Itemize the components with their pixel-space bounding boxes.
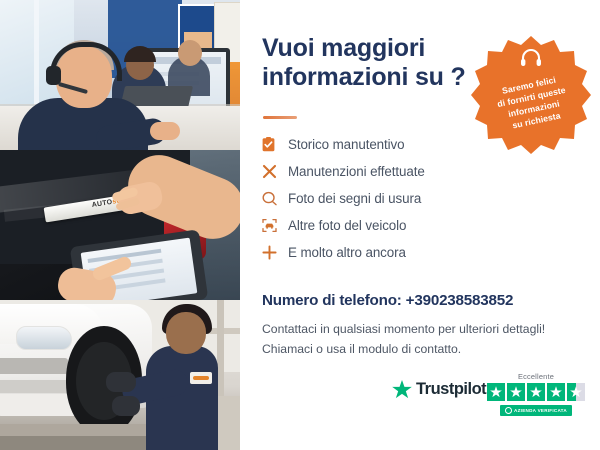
list-item: Altre foto del veicolo	[262, 212, 512, 239]
headline-line-2: informazioni su ?	[262, 63, 476, 92]
tools-cross-icon	[262, 164, 288, 179]
promo-banner: AUTOscout	[0, 0, 600, 450]
headlight	[16, 326, 72, 350]
trustpilot-widget[interactable]: Trustpilot Eccellente	[392, 372, 588, 418]
magnifier-icon	[262, 191, 288, 206]
garage-pole	[217, 300, 224, 400]
vehicle-inspection-photo: AUTOscout	[0, 150, 240, 300]
verified-company-badge: AZIENDA VERIFICATA	[500, 405, 572, 416]
window-frame	[34, 0, 39, 112]
agent-hand	[150, 122, 180, 140]
rating-label: Eccellente	[484, 372, 588, 381]
page-title: Vuoi maggiori informazioni su ?	[262, 34, 476, 93]
clipboard-check-icon	[262, 137, 288, 152]
star-rating	[484, 383, 588, 401]
list-item: Storico manutentivo	[262, 131, 512, 158]
list-item: Foto dei segni di usura	[262, 185, 512, 212]
contact-description: Contattaci in qualsiasi momento per ulte…	[262, 320, 562, 360]
mechanic-glove-lower	[112, 396, 140, 416]
trustpilot-rating: Eccellente	[484, 372, 588, 419]
list-item-label: Storico manutentivo	[288, 137, 404, 152]
trustpilot-logo: Trustpilot	[392, 380, 486, 399]
star-5-half	[567, 383, 585, 401]
star-3	[527, 383, 545, 401]
mechanic-glove-upper	[106, 372, 136, 392]
call-center-agent-photo	[0, 0, 240, 150]
contact-line-2: Chiamaci o usa il modulo di contatto.	[262, 340, 562, 360]
headline-line-1: Vuoi maggiori	[262, 34, 476, 63]
list-item: Manutenzioni effettuate	[262, 158, 512, 185]
star-2	[507, 383, 525, 401]
contact-line-1: Contattaci in qualsiasi momento per ulte…	[262, 320, 562, 340]
trustpilot-star-icon	[392, 380, 412, 399]
title-underline	[263, 116, 297, 119]
trustpilot-wordmark: Trustpilot	[416, 380, 486, 399]
mechanic-head	[166, 312, 206, 354]
list-item: E molto altro ancora	[262, 239, 512, 266]
plus-icon	[262, 245, 288, 260]
list-item-label: Manutenzioni effettuate	[288, 164, 425, 179]
feature-list: Storico manutentivo Manutenzioni effettu…	[262, 131, 512, 266]
front-grille	[0, 358, 68, 374]
star-4	[547, 383, 565, 401]
colleague-far-head	[178, 40, 202, 66]
uniform-logo-patch	[190, 372, 212, 384]
mechanic-wheel-photo	[0, 300, 240, 450]
list-item-label: E molto altro ancora	[288, 245, 406, 260]
content-panel: Vuoi maggiori informazioni su ? Saremo f…	[240, 0, 600, 450]
list-item-label: Foto dei segni di usura	[288, 191, 421, 206]
photo-column: AUTOscout	[0, 0, 240, 450]
star-1	[487, 383, 505, 401]
car-scan-icon	[262, 218, 288, 233]
list-item-label: Altre foto del veicolo	[288, 218, 406, 233]
phone-number[interactable]: Numero di telefono: +390238583852	[262, 292, 513, 309]
check-icon	[505, 407, 512, 414]
verified-label: AZIENDA VERIFICATA	[514, 408, 567, 413]
